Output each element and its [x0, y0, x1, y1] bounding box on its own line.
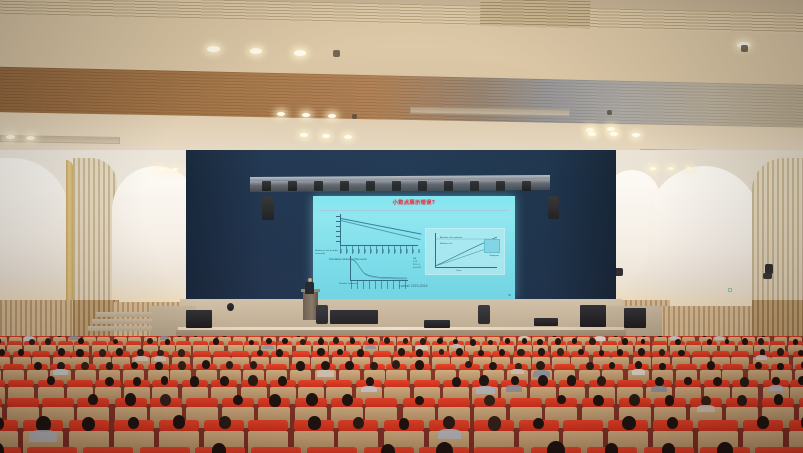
audience-member	[269, 394, 281, 407]
audience-member	[675, 339, 681, 346]
audience-member	[366, 377, 374, 386]
audience-member	[202, 360, 210, 369]
audience-member-shoulders	[135, 356, 147, 361]
auditorium-photo: 小数点展示错误? Number at risk (number censored…	[0, 0, 803, 453]
audience-member	[605, 443, 618, 453]
seat-cushion	[186, 398, 218, 407]
seat-cushion	[414, 380, 440, 387]
audience-member	[178, 361, 186, 370]
flown-line-array-speaker-right	[548, 196, 559, 219]
recessed-downlight	[300, 133, 308, 137]
audience-member	[82, 417, 95, 431]
audience-member	[147, 338, 153, 344]
ceiling-sprinkler	[607, 110, 612, 115]
audience-member	[774, 394, 783, 404]
audience-member	[381, 444, 395, 453]
audience-member	[131, 362, 138, 369]
audience-member	[635, 361, 642, 369]
audience-member	[547, 441, 565, 453]
recessed-downlight	[686, 167, 692, 170]
audience-member	[798, 376, 803, 385]
audience-member	[105, 377, 114, 387]
audience-member	[589, 338, 596, 345]
recessed-downlight	[294, 50, 306, 56]
audience-member	[137, 349, 143, 356]
recessed-downlight	[26, 136, 35, 140]
seat-cushion	[213, 351, 231, 356]
audience-member	[537, 339, 543, 345]
audience-member	[593, 395, 603, 406]
audience-member	[757, 416, 769, 429]
audience-member	[36, 416, 51, 432]
audience-member	[452, 377, 461, 387]
floor-monitor-speaker	[580, 305, 606, 327]
audience-member	[740, 377, 749, 386]
audience-member	[465, 361, 472, 368]
audience-member	[665, 395, 675, 405]
recessed-downlight	[207, 46, 220, 52]
chart-legend-box	[484, 239, 500, 253]
slide-citation: Lancet 2023;2024	[399, 284, 428, 288]
seat-cushion	[438, 398, 470, 407]
audience-member-shoulders	[154, 356, 166, 361]
recessed-downlight	[158, 168, 164, 171]
chart-risk-table-label: Number at risk (number censored)	[315, 250, 341, 256]
audience-member	[622, 416, 636, 431]
audience-member-shoulders	[511, 369, 523, 374]
seat-cushion	[298, 380, 324, 387]
audience-member	[398, 348, 406, 356]
audience-member	[470, 339, 476, 346]
seat-cushion	[27, 447, 77, 453]
seat-cushion	[365, 398, 397, 407]
audience-member	[173, 415, 186, 429]
audience-member	[113, 339, 118, 344]
audience-member	[226, 361, 233, 369]
seat-cushion	[193, 351, 211, 356]
audience-member	[249, 340, 254, 345]
seat-cushion	[7, 398, 39, 407]
seat-cushion	[326, 380, 352, 387]
audience-member	[34, 362, 42, 370]
audience-member	[599, 350, 605, 356]
recessed-downlight	[322, 134, 330, 138]
audience-member	[557, 348, 564, 356]
seat-cushion	[373, 351, 391, 356]
audience-member	[443, 416, 455, 429]
audience-member-shoulders	[365, 345, 376, 350]
seat-cushion	[755, 447, 803, 453]
audience-member	[370, 362, 377, 370]
audience-member	[337, 349, 343, 355]
seat-cushion	[0, 380, 5, 387]
chart-series-line-b	[341, 220, 421, 240]
stage-spotlight	[522, 181, 531, 191]
audience-member	[321, 361, 330, 370]
audience-member	[106, 362, 114, 370]
seat-cushion	[140, 447, 190, 453]
arch-gold-trim	[66, 160, 73, 308]
seat-cushion	[231, 351, 249, 356]
seat-cushion	[42, 398, 74, 407]
stage-spotlight	[262, 181, 271, 191]
floor-monitor-speaker	[624, 308, 646, 328]
audience-member	[578, 349, 584, 356]
audience-member	[415, 360, 424, 370]
ribbed-wall-column	[752, 158, 803, 310]
audience-member	[165, 339, 171, 345]
slide-chart-survival: Number at risk (number censored) Cumulat…	[329, 214, 421, 252]
audience-member-shoulders	[361, 386, 377, 393]
ceiling-sprinkler	[741, 45, 748, 52]
slide-page-number: 46	[508, 294, 511, 297]
seat-cushion	[307, 447, 357, 453]
audience-member-shoulders	[438, 429, 461, 439]
audience-member-shoulders	[769, 385, 783, 391]
audience-member	[678, 350, 684, 357]
audience-member-shoulders	[715, 336, 725, 340]
audience-member	[318, 338, 325, 345]
audience-member-shoulders	[595, 336, 605, 340]
audience-member	[345, 361, 353, 370]
audience-member	[488, 416, 501, 430]
audience-member-shoulders	[651, 386, 667, 393]
audience-member	[47, 376, 55, 385]
audience-member	[220, 376, 229, 386]
audience-member	[276, 349, 283, 357]
audience-member-shoulders	[632, 369, 645, 375]
chart-legend: Placebo Treatment	[339, 283, 357, 286]
chart-x-axis-label: Years	[456, 270, 462, 273]
stage-spotlight	[496, 181, 505, 191]
seat-cushion	[474, 447, 524, 453]
audience-member	[488, 340, 493, 345]
audience-member	[798, 350, 803, 356]
audience-member	[655, 377, 664, 386]
stage-floor-light	[227, 303, 234, 311]
audience-member	[213, 338, 219, 344]
audience-member	[622, 338, 628, 344]
audience-member	[219, 416, 231, 429]
audience-member	[45, 338, 51, 345]
ceiling-sprinkler	[352, 114, 357, 119]
stage-spotlight	[418, 181, 427, 191]
seat-cushion	[510, 398, 542, 407]
audience-member	[58, 348, 65, 356]
seat-cushion	[731, 351, 749, 356]
stage-step	[88, 326, 152, 331]
seat-cushion	[563, 420, 603, 431]
audience-member	[384, 337, 390, 344]
recessed-downlight	[632, 133, 640, 137]
stage-spotlight	[288, 181, 297, 191]
seat-cushion	[8, 380, 34, 387]
audience-member	[81, 362, 89, 370]
wall-control-panel	[728, 288, 732, 292]
recessed-downlight	[6, 135, 15, 139]
curved-acoustic-arch-panel	[648, 166, 760, 312]
seat-cushion	[617, 380, 643, 387]
audience-member	[662, 443, 675, 453]
audience-member	[350, 338, 355, 343]
seat-cushion	[292, 351, 310, 356]
seat-cushion	[712, 351, 730, 356]
audience-member	[659, 363, 665, 370]
audience-seating	[0, 336, 803, 453]
seat-cushion	[32, 351, 50, 356]
chart-curve-area	[351, 258, 407, 280]
audience-member	[641, 339, 646, 344]
audience-member-shoulders	[317, 370, 333, 377]
audience-member	[222, 336, 226, 337]
chart-x-tick-labels	[340, 249, 420, 253]
audience-member	[505, 338, 510, 344]
stage-step	[92, 319, 152, 324]
stage-chair-left	[316, 305, 328, 324]
audience-member	[659, 349, 665, 356]
audience-member-shoulders	[756, 355, 767, 360]
chart-stats-annotation: HR 0.76 95% CI p<0.001	[413, 258, 421, 270]
slide-chart-incidence: Absolute risk reduction Relative risk Ye…	[425, 228, 505, 275]
audience-member	[755, 362, 761, 369]
audience-member	[18, 349, 24, 356]
stage-spotlight	[340, 181, 349, 191]
decay-curve-svg	[351, 258, 407, 280]
audience-member	[76, 349, 83, 357]
stage-chair-right	[478, 305, 490, 324]
seat-cushion	[251, 447, 301, 453]
audience-member	[567, 375, 577, 386]
seat-cushion	[384, 380, 410, 387]
audience-member-shoulders	[29, 430, 57, 442]
audience-member	[707, 361, 715, 370]
audience-member	[717, 442, 733, 453]
floor-monitor-speaker	[186, 310, 212, 328]
audience-member	[353, 417, 364, 429]
seat-cushion	[248, 420, 288, 431]
floor-monitor-speaker	[424, 320, 450, 328]
seat-cushion	[67, 380, 93, 387]
recessed-downlight	[607, 127, 615, 131]
audience-member	[737, 395, 747, 406]
audience-member	[420, 338, 427, 345]
audience-member	[57, 336, 62, 337]
audience-member	[684, 377, 691, 385]
slide-title: 小数点展示错误?	[313, 199, 515, 206]
stage-step	[96, 312, 152, 317]
flown-line-array-speaker-left	[262, 196, 274, 220]
audience-member	[233, 395, 243, 405]
ceiling-sprinkler	[333, 50, 340, 57]
audience-member	[499, 349, 505, 356]
audience-member	[415, 396, 424, 405]
audience-member	[478, 350, 484, 356]
audience-member	[317, 348, 324, 356]
ribbed-wall-column	[73, 158, 117, 308]
audience-member	[116, 348, 123, 355]
stage-spotlight	[444, 181, 453, 191]
audience-member	[777, 348, 784, 355]
audience-member	[78, 338, 84, 344]
floor-monitor-speaker	[534, 318, 558, 326]
audience-member	[342, 394, 353, 406]
audience-member	[357, 349, 364, 357]
chart-series-line-a	[341, 218, 422, 235]
audience-member	[296, 361, 304, 370]
recessed-downlight	[277, 112, 285, 116]
recessed-downlight	[588, 132, 596, 136]
presenter-at-podium	[305, 278, 314, 294]
audience-member	[586, 362, 594, 371]
audience-member	[538, 375, 548, 386]
audience-member	[713, 377, 722, 387]
chart-annotation-a: Absolute risk reduction	[440, 237, 462, 240]
audience-member	[707, 339, 712, 345]
audience-member	[29, 339, 35, 346]
ceiling-camera	[763, 273, 772, 279]
audience-member	[178, 349, 185, 357]
chart-legend-box-label: Subgroup	[490, 255, 500, 258]
audience-member	[128, 417, 139, 429]
audience-member	[257, 350, 263, 357]
recessed-downlight	[250, 48, 262, 54]
audience-member-shoulders	[53, 369, 68, 375]
seat-cushion	[698, 420, 738, 431]
audience-member	[742, 338, 748, 344]
chart-x-axis	[435, 267, 497, 268]
audience-member	[479, 375, 489, 386]
stage-spotlight	[470, 181, 479, 191]
seat-cushion	[692, 351, 710, 356]
audience-member	[533, 418, 544, 430]
seat-cushion	[0, 364, 1, 370]
audience-member	[160, 394, 172, 407]
audience-member	[161, 376, 169, 384]
audience-member	[399, 418, 410, 430]
seat-cushion	[83, 447, 133, 453]
panel-table	[330, 310, 378, 324]
recessed-downlight	[172, 168, 178, 171]
stage-spotlight	[314, 181, 323, 191]
recessed-downlight	[302, 113, 310, 117]
recessed-downlight	[344, 135, 352, 139]
audience-member	[308, 416, 320, 429]
audience-member	[133, 377, 141, 386]
audience-member	[416, 349, 423, 356]
audience-member	[212, 443, 227, 453]
audience-member	[572, 338, 577, 344]
audience-member	[278, 376, 287, 386]
audience-member	[484, 395, 495, 406]
recessed-downlight	[668, 167, 674, 170]
audience-member-shoulders	[476, 386, 495, 394]
projection-screen: 小数点展示错误? Number at risk (number censored…	[313, 196, 515, 299]
stage-spotlight	[392, 181, 401, 191]
audience-member	[99, 349, 106, 357]
slide-title-divider	[319, 210, 509, 211]
audience-member	[125, 393, 137, 406]
audience-member	[777, 363, 783, 370]
audience-member-shoulders	[697, 405, 715, 413]
audience-member	[511, 376, 519, 385]
recessed-downlight	[328, 114, 336, 118]
audience-member	[793, 339, 799, 345]
audience-member	[306, 393, 318, 406]
recessed-downlight	[650, 167, 656, 170]
presenter-torso	[305, 282, 314, 294]
audience-member	[517, 349, 524, 357]
audience-member	[190, 376, 200, 387]
audience-member-shoulders	[506, 385, 521, 391]
stage-spotlight	[366, 181, 375, 191]
audience-member	[555, 338, 561, 345]
audience-member	[538, 348, 545, 355]
recessed-downlight	[610, 132, 618, 136]
audience-member	[155, 362, 162, 370]
audience-member	[629, 394, 640, 406]
chart-annotation-b: Relative risk	[440, 243, 452, 246]
audience-member	[758, 338, 764, 345]
audience-member	[772, 377, 779, 385]
seat-cushion	[799, 398, 803, 407]
seat-cushion	[0, 398, 2, 407]
audience-member-shoulders	[262, 345, 273, 350]
